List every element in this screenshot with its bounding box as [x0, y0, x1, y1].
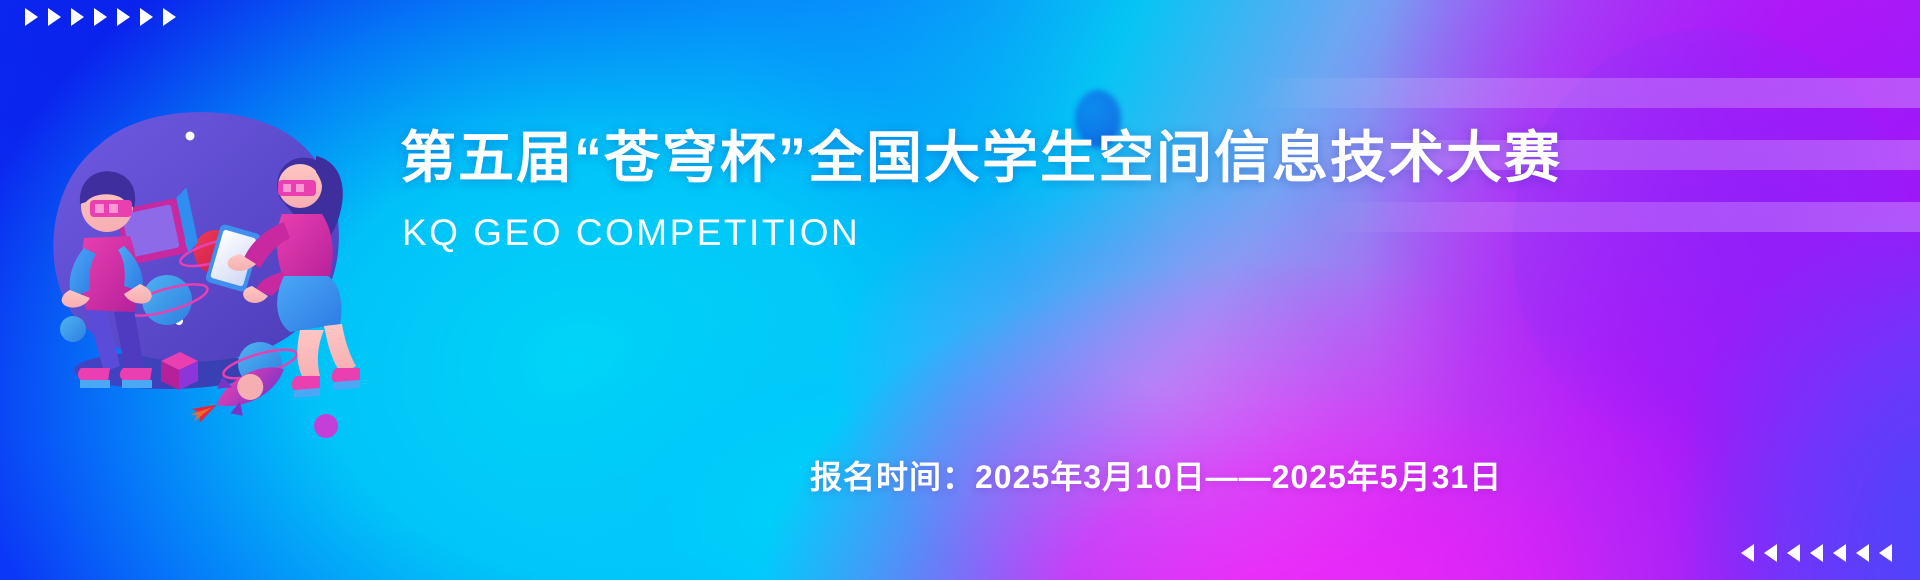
right-triangle-icon [25, 8, 38, 26]
arrow-row-top-left [25, 8, 176, 26]
blue-planet-small [60, 316, 86, 342]
banner-text-block: 第五届“苍穹杯”全国大学生空间信息技术大赛 KQ GEO COMPETITION [400, 128, 1562, 254]
right-triangle-icon [117, 8, 130, 26]
left-triangle-icon [1787, 544, 1800, 562]
left-triangle-icon [1833, 544, 1846, 562]
left-triangle-icon [1879, 544, 1892, 562]
pink-planet-small [314, 414, 338, 438]
banner-title: 第五届“苍穹杯”全国大学生空间信息技术大赛 [400, 128, 1562, 188]
right-triangle-icon [71, 8, 84, 26]
right-triangle-icon [140, 8, 153, 26]
left-triangle-icon [1741, 544, 1754, 562]
stripe-1 [1248, 78, 1920, 108]
left-triangle-icon [1856, 544, 1869, 562]
left-triangle-icon [1810, 544, 1823, 562]
right-triangle-icon [48, 8, 61, 26]
arrow-row-bottom-right [1741, 544, 1892, 562]
banner-subtitle: KQ GEO COMPETITION [402, 212, 1562, 254]
star [186, 132, 195, 141]
left-triangle-icon [1764, 544, 1777, 562]
competition-banner: 第五届“苍穹杯”全国大学生空间信息技术大赛 KQ GEO COMPETITION… [0, 0, 1920, 580]
vr-students-space-illustration [28, 76, 348, 396]
right-triangle-icon [163, 8, 176, 26]
right-triangle-icon [94, 8, 107, 26]
registration-period-text: 报名时间：2025年3月10日——2025年5月31日 [810, 452, 1502, 498]
